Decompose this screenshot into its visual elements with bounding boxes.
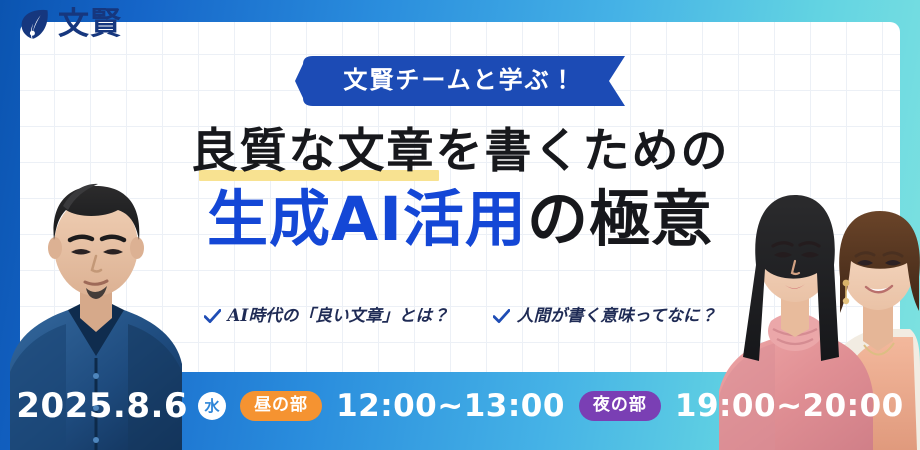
ribbon-badge: 文賢チームと学ぶ！ <box>295 56 625 106</box>
ribbon-label: 文賢チームと学ぶ！ <box>343 68 576 94</box>
session-pill-night: 夜の部 <box>579 391 661 421</box>
schedule-bar: 2025.8.6 水 昼の部 12:00~13:00 夜の部 19:00~20:… <box>0 381 920 431</box>
event-date: 2025.8.6 <box>16 389 188 423</box>
session-time-day: 12:00~13:00 <box>336 391 565 422</box>
event-weekday-badge: 水 <box>198 392 226 420</box>
leaf-pen-nib-icon <box>20 8 50 40</box>
brand-logo[interactable]: 文賢 <box>20 8 122 40</box>
brand-wordmark: 文賢 <box>58 9 122 40</box>
webinar-banner: 文賢 文賢チームと学ぶ！ 良質な文章を書くための 生成AI活用の極意 AI時代の… <box>0 0 920 450</box>
session-pill-day: 昼の部 <box>240 391 322 421</box>
session-time-night: 19:00~20:00 <box>675 391 904 422</box>
